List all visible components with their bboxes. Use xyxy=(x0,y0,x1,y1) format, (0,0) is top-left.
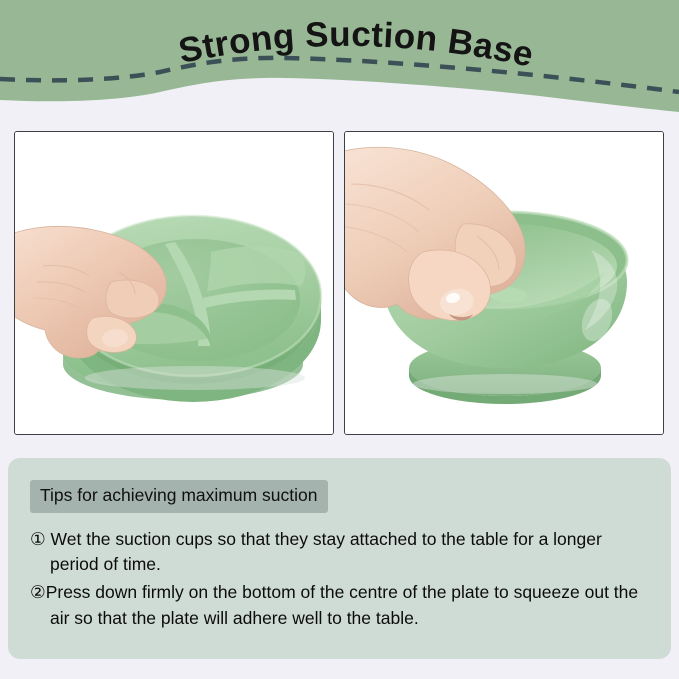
banner-wave-shape xyxy=(0,0,679,120)
divided-plate-lift-photo xyxy=(14,131,334,435)
tip-item-2: ②Press down firmly on the bottom of the … xyxy=(30,580,649,632)
tip-item-1: ① Wet the suction cups so that they stay… xyxy=(30,527,649,579)
tips-heading: Tips for achieving maximum suction xyxy=(30,480,328,513)
product-photo-row xyxy=(14,131,665,435)
tips-panel: Tips for achieving maximum suction ① Wet… xyxy=(8,458,671,659)
tips-list: ① Wet the suction cups so that they stay… xyxy=(30,527,649,633)
header-banner: Strong Suction Base xyxy=(0,0,679,120)
suction-bowl-lift-photo xyxy=(344,131,664,435)
